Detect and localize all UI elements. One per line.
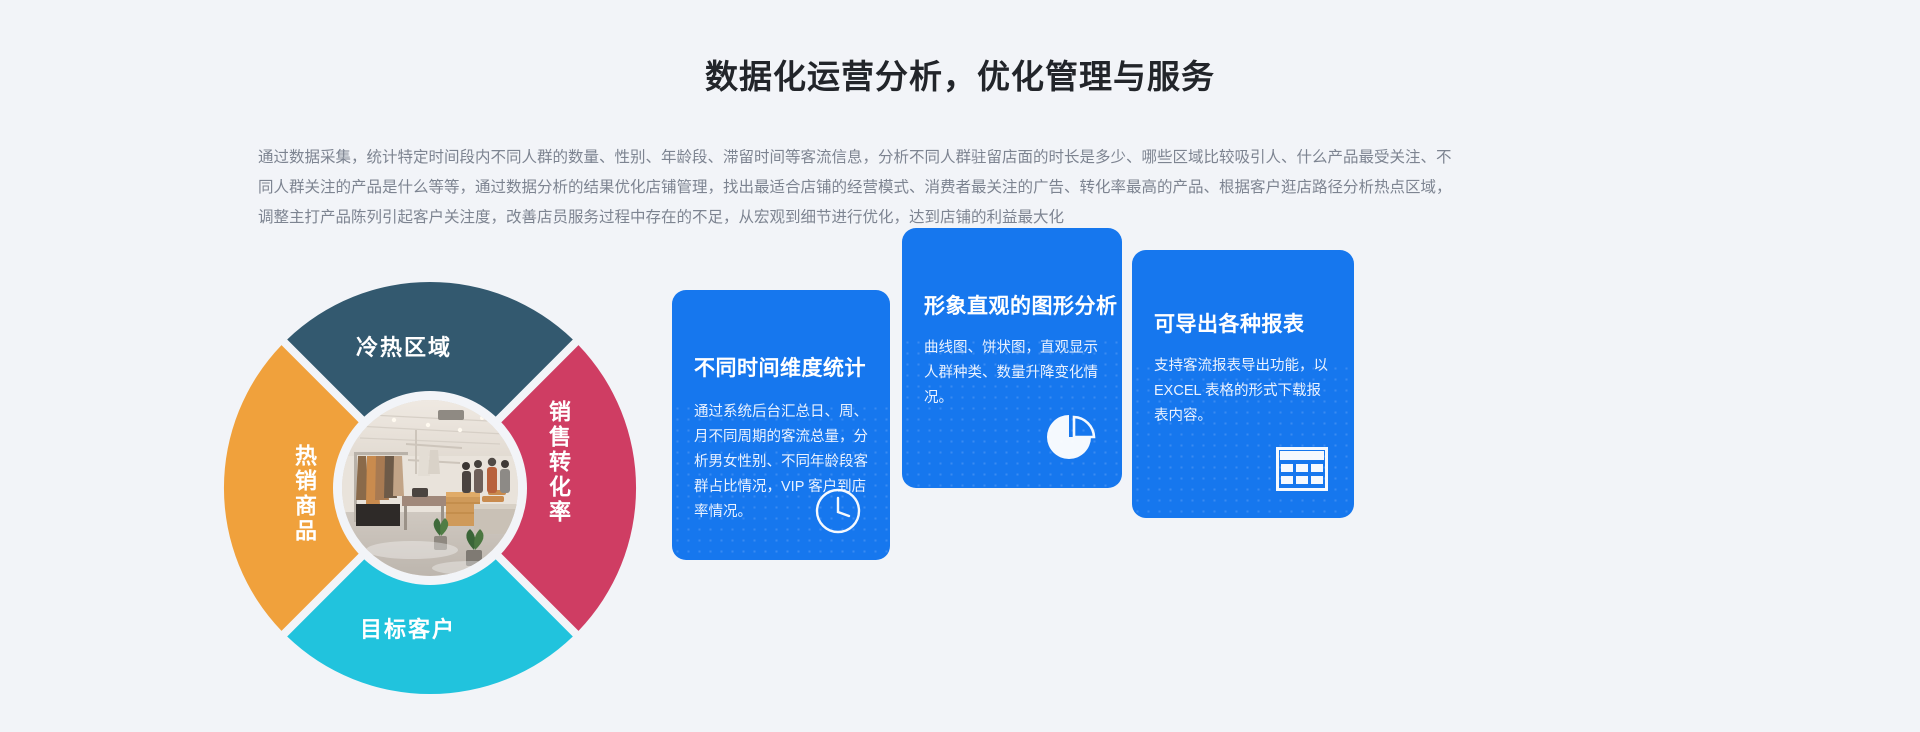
intro-line-1: 通过数据采集，统计特定时间段内不同人群的数量、性别、年龄段、滞留时间等客流信息，… [258,143,1673,173]
card-title: 不同时间维度统计 [694,352,890,382]
feature-card-time-statistics[interactable]: 不同时间维度统计 通过系统后台汇总日、周、月不同周期的客流总量，分析男女性别、不… [672,290,890,560]
feature-card-export-reports[interactable]: 可导出各种报表 支持客流报表导出功能，以 EXCEL 表格的形式下载报表内容。 [1132,250,1354,518]
page-root: 数据化运营分析，优化管理与服务 通过数据采集，统计特定时间段内不同人群的数量、性… [0,0,1920,732]
intro-line-2: 同人群关注的产品是什么等等，通过数据分析的结果优化店铺管理，找出最适合店铺的经营… [258,173,1673,203]
pie-chart-icon [1044,411,1098,468]
donut-chart: 冷热区域 销售转化率 目标客户 热销商品 [220,278,640,698]
donut-center-photo [342,400,518,576]
page-title: 数据化运营分析，优化管理与服务 [0,50,1920,98]
clock-icon [812,485,864,542]
card-body: 支持客流报表导出功能，以 EXCEL 表格的形式下载报表内容。 [1154,354,1330,429]
card-title: 可导出各种报表 [1154,308,1354,338]
retail-store-photo [342,400,518,576]
card-title: 形象直观的图形分析 [924,290,1122,320]
intro-paragraph: 通过数据采集，统计特定时间段内不同人群的数量、性别、年龄段、滞留时间等客流信息，… [258,143,1673,233]
feature-card-graphical-analysis[interactable]: 形象直观的图形分析 曲线图、饼状图，直观显示人群种类、数量升降变化情况。 [902,228,1122,488]
donut-label-top: 冷热区域 [356,330,452,362]
donut-label-bottom: 目标客户 [360,612,456,644]
donut-label-left: 热销商品 [288,444,320,544]
card-body: 曲线图、饼状图，直观显示人群种类、数量升降变化情况。 [924,336,1104,411]
donut-label-right: 销售转化率 [542,400,574,525]
table-grid-icon [1276,447,1328,496]
